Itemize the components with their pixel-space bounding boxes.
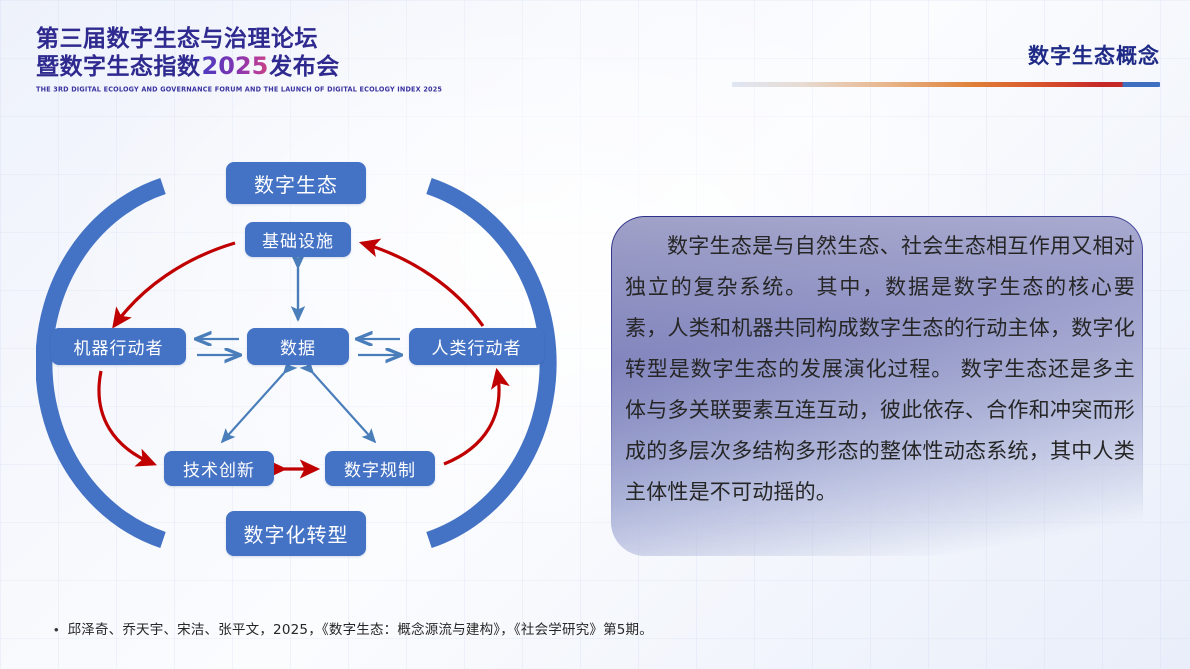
logo-line-1: 第三届数字生态与治理论坛 bbox=[36, 26, 442, 53]
page-title: 数字生态概念 bbox=[1028, 40, 1160, 70]
logo-line-2: 暨数字生态指数2025发布会 bbox=[36, 53, 442, 81]
logo-year-2025: 2025 bbox=[201, 52, 270, 80]
logo-english-subtitle: THE 3RD DIGITAL ECOLOGY AND GOVERNANCE F… bbox=[36, 85, 442, 93]
node-tech-innovation[interactable]: 技术创新 bbox=[164, 451, 274, 486]
node-digital-ecology[interactable]: 数字生态 bbox=[226, 162, 366, 204]
title-gradient-rule bbox=[732, 82, 1160, 87]
slide-header: 第三届数字生态与治理论坛 暨数字生态指数2025发布会 THE 3RD DIGI… bbox=[0, 0, 1190, 96]
forum-logo: 第三届数字生态与治理论坛 暨数字生态指数2025发布会 THE 3RD DIGI… bbox=[36, 26, 442, 93]
footnote-text: 邱泽奇、乔天宇、宋洁、张平文，2025，《数字生态：概念源流与建构》，《社会学研… bbox=[68, 620, 653, 640]
node-human-actor[interactable]: 人类行动者 bbox=[409, 328, 544, 365]
blue-arrow-data-regulation bbox=[313, 373, 375, 442]
footnote: • 邱泽奇、乔天宇、宋洁、张平文，2025，《数字生态：概念源流与建构》，《社会… bbox=[54, 620, 1154, 640]
node-infrastructure[interactable]: 基础设施 bbox=[245, 222, 351, 257]
node-digital-regulation[interactable]: 数字规制 bbox=[325, 451, 435, 486]
logo-line-2-suffix: 发布会 bbox=[269, 54, 340, 80]
red-arc-regulation-to-human bbox=[444, 371, 499, 464]
node-digital-transformation[interactable]: 数字化转型 bbox=[226, 511, 366, 556]
logo-line-2-prefix: 暨数字生态指数 bbox=[36, 54, 201, 80]
concept-panel-text: 数字生态是与自然生态、社会生态相互作用又相对独立的复杂系统。 其中，数据是数字生… bbox=[625, 226, 1135, 513]
red-arc-machine-to-tech bbox=[99, 371, 154, 464]
red-arc-infra-to-machine bbox=[114, 243, 235, 326]
footnote-bullet-icon: • bbox=[54, 620, 59, 640]
blue-arrow-data-tech bbox=[222, 373, 284, 442]
node-data[interactable]: 数据 bbox=[247, 328, 349, 365]
node-machine-actor[interactable]: 机器行动者 bbox=[51, 328, 186, 365]
red-arc-human-to-infra bbox=[362, 243, 483, 326]
digital-ecology-diagram: 数字生态 基础设施 机器行动者 数据 人类行动者 技术创新 数字规制 数字化转型 bbox=[36, 148, 582, 578]
